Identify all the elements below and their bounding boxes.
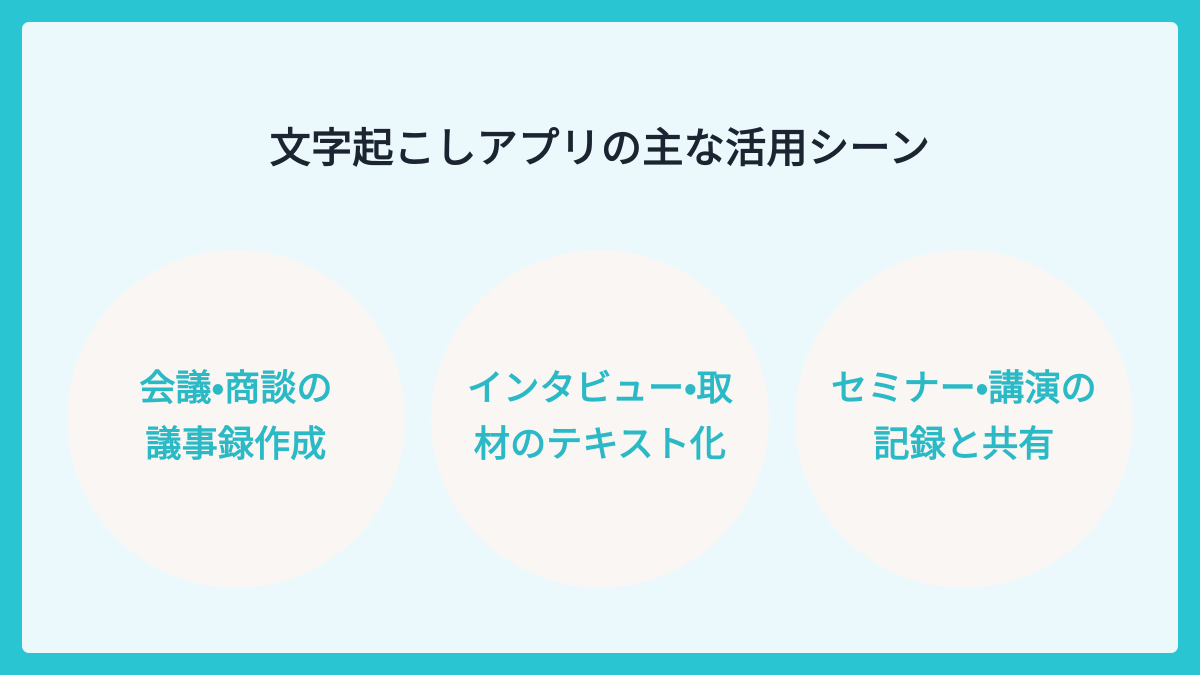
scene-label-seminar-record-share: セミナー・講演の 記録と共有 bbox=[795, 361, 1133, 473]
scene-circle-row: 会議・商談の 議事録作成 インタビュー・取 材のテキスト化 セミナー・講演の 記… bbox=[22, 250, 1178, 610]
scene-circle-interview-transcription: インタビュー・取 材のテキスト化 bbox=[431, 250, 769, 588]
scene-circle-meeting-minutes: 会議・商談の 議事録作成 bbox=[67, 250, 405, 588]
page-title: 文字起こしアプリの主な活用シーン bbox=[22, 123, 1178, 174]
scene-circle-seminar-record-share: セミナー・講演の 記録と共有 bbox=[795, 250, 1133, 588]
scene-label-interview-transcription: インタビュー・取 材のテキスト化 bbox=[431, 361, 769, 473]
infographic-slide: 文字起こしアプリの主な活用シーン 会議・商談の 議事録作成 インタビュー・取 材… bbox=[0, 0, 1200, 675]
content-panel: 文字起こしアプリの主な活用シーン 会議・商談の 議事録作成 インタビュー・取 材… bbox=[22, 22, 1178, 653]
scene-label-meeting-minutes: 会議・商談の 議事録作成 bbox=[139, 361, 332, 473]
